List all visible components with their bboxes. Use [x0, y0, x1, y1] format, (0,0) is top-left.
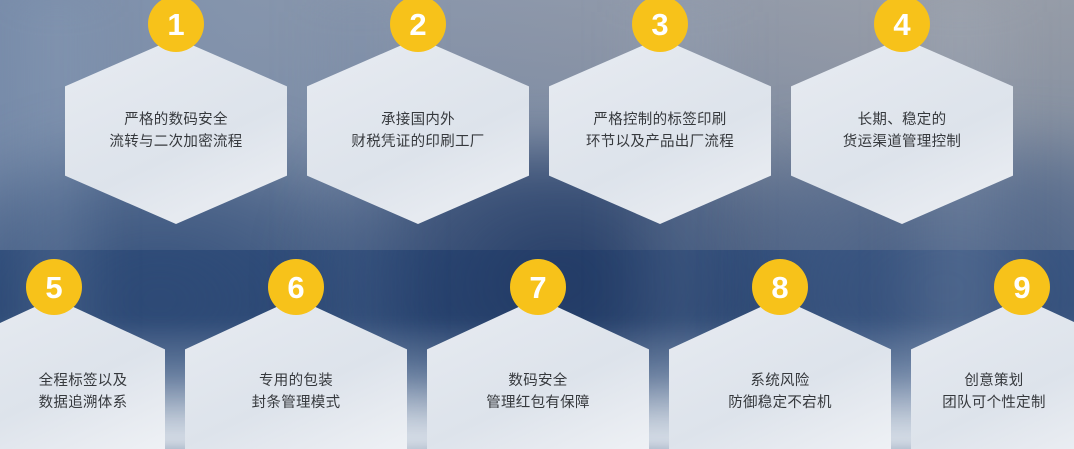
- hex-card-3-text: 严格控制的标签印刷 环节以及产品出厂流程: [586, 109, 734, 153]
- badge-number-1-label: 1: [167, 9, 184, 40]
- hex-card-8-text: 系统风险 防御稳定不宕机: [728, 370, 832, 414]
- hex-card-6-text: 专用的包装 封条管理模式: [252, 370, 341, 414]
- badge-number-9[interactable]: 9: [994, 259, 1050, 315]
- badge-number-9-label: 9: [1013, 272, 1030, 303]
- badge-number-8[interactable]: 8: [752, 259, 808, 315]
- badge-number-7-label: 7: [529, 272, 546, 303]
- badge-number-4-label: 4: [893, 9, 910, 40]
- badge-number-8-label: 8: [771, 272, 788, 303]
- badge-number-5[interactable]: 5: [26, 259, 82, 315]
- hex-card-9-text: 创意策划 团队可个性定制: [942, 370, 1046, 414]
- badge-number-6[interactable]: 6: [268, 259, 324, 315]
- badge-number-2-label: 2: [409, 9, 426, 40]
- badge-number-3-label: 3: [651, 9, 668, 40]
- hex-card-7-text: 数码安全 管理红包有保障: [486, 370, 590, 414]
- hex-card-4-text: 长期、稳定的 货运渠道管理控制: [843, 109, 961, 153]
- badge-number-7[interactable]: 7: [510, 259, 566, 315]
- hex-card-5-text: 全程标签以及 数据追溯体系: [39, 370, 128, 414]
- hex-card-2-text: 承接国内外 财税凭证的印刷工厂: [351, 109, 484, 153]
- badge-number-5-label: 5: [45, 272, 62, 303]
- badge-number-6-label: 6: [287, 272, 304, 303]
- infographic-stage: 严格的数码安全 流转与二次加密流程 承接国内外 财税凭证的印刷工厂 严格控制的标…: [0, 0, 1074, 449]
- hex-card-1-text: 严格的数码安全 流转与二次加密流程: [109, 109, 242, 153]
